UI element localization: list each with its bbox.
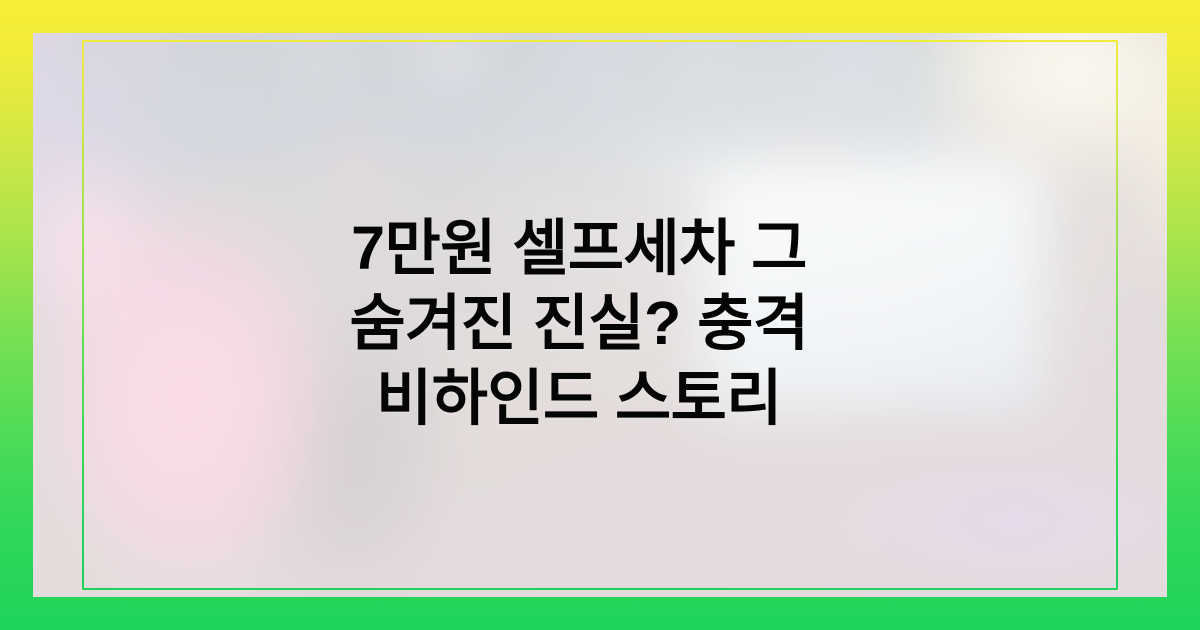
headline-text: 7만원 셀프세차 그 숨겨진 진실? 충격 비하인드 스토리 (350, 211, 809, 436)
photo-window: 7만원 셀프세차 그 숨겨진 진실? 충격 비하인드 스토리 (33, 33, 1167, 597)
headline-line-2: 숨겨진 진실? 충격 (350, 286, 809, 361)
headline-container: 7만원 셀프세차 그 숨겨진 진실? 충격 비하인드 스토리 (33, 33, 1167, 597)
thumbnail-card: 7만원 셀프세차 그 숨겨진 진실? 충격 비하인드 스토리 (0, 0, 1200, 630)
headline-line-3: 비하인드 스토리 (350, 361, 809, 436)
headline-line-1: 7만원 셀프세차 그 (350, 211, 809, 286)
